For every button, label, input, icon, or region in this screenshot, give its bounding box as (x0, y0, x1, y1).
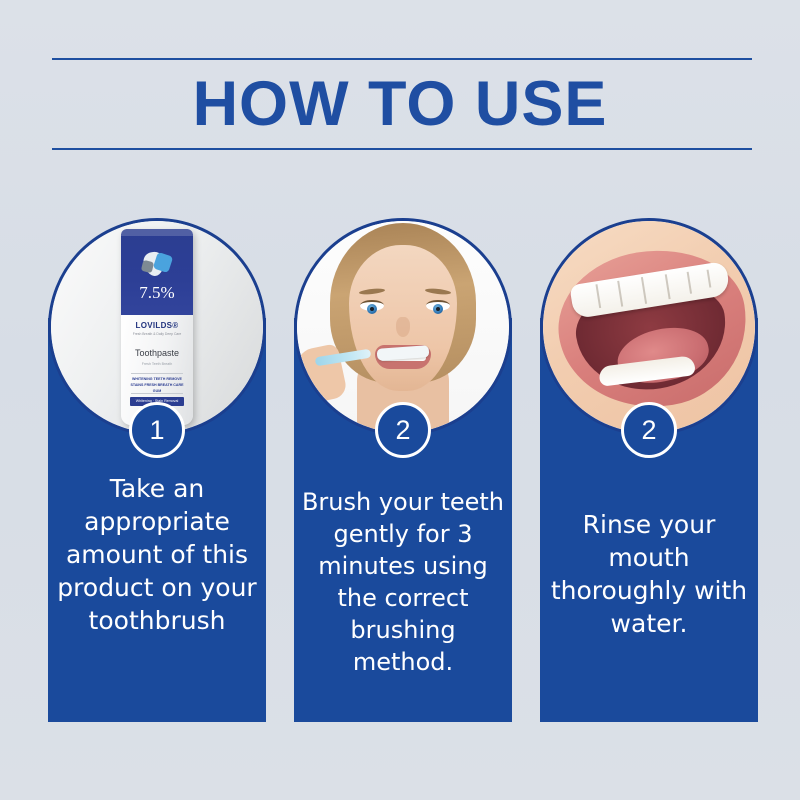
tube-divider-bottom (131, 393, 183, 394)
tube-crimp (121, 229, 193, 236)
step-2-caption: Brush your teeth gently for 3 minutes us… (300, 486, 506, 678)
tube-divider-top (131, 373, 183, 374)
tube-claim-label: Fresh Teeth Breath (127, 362, 187, 367)
tube-product-name: Toothpaste (121, 348, 193, 359)
infographic-stage: HOW TO USE (0, 0, 800, 800)
title-rule-top (52, 58, 752, 60)
tube-brand-label: LOVILDS® (121, 321, 193, 331)
step-1-caption: Take an appropriate amount of this produ… (54, 472, 260, 637)
toothpaste-tube: 7.5% LOVILDS® Fresh Breath & Daily Deep … (121, 229, 193, 425)
steps-container: 7.5% LOVILDS® Fresh Breath & Daily Deep … (0, 218, 800, 728)
right-eye (426, 300, 450, 311)
step-1-number-badge: 1 (129, 402, 185, 458)
tube-brand-subtitle: Fresh Breath & Daily Deep Care (127, 332, 187, 337)
step-card-1: 7.5% LOVILDS® Fresh Breath & Daily Deep … (48, 318, 266, 722)
step-3-number-badge: 2 (621, 402, 677, 458)
step-card-3: 2 Rinse your mouth thoroughly with water… (540, 318, 758, 722)
tooth-shield-icon (140, 250, 174, 280)
title-rule-bottom (52, 148, 752, 150)
tube-percent-label: 7.5% (121, 283, 193, 303)
step-3-caption: Rinse your mouth thoroughly with water. (546, 508, 752, 640)
left-eye (360, 300, 384, 311)
step-card-2: 2 Brush your teeth gently for 3 minutes … (294, 318, 512, 722)
step-2-number-badge: 2 (375, 402, 431, 458)
header: HOW TO USE (0, 40, 800, 155)
tube-bullets: WHITENING TEETH REMOVE STAINS FRESH BREA… (128, 376, 186, 394)
page-title: HOW TO USE (0, 62, 800, 146)
tube-upper-panel: 7.5% (121, 229, 193, 315)
